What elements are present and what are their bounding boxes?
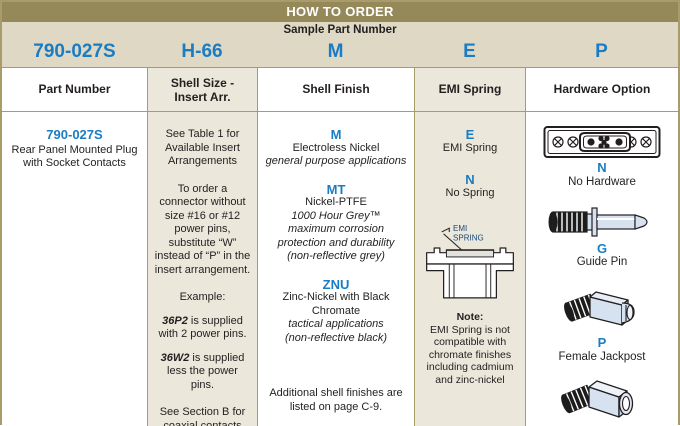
sample-value-shell-size: H-66: [147, 37, 257, 67]
female-jackpost-icon: [560, 283, 644, 335]
column-header-shell-size-label: Shell Size -Insert Arr.: [171, 76, 234, 104]
guide-pin-icon: [547, 203, 657, 241]
hardware-figure-no-hardware: [532, 124, 672, 160]
shell-finish-code-mt: MT: [264, 183, 408, 197]
column-header-shell-size: Shell Size -Insert Arr.: [147, 68, 257, 111]
shell-finish-note-znu-1: (non-reflective black): [264, 332, 408, 346]
hardware-name-g: Guide Pin: [532, 255, 672, 269]
part-number-code: 790-027S: [8, 128, 141, 142]
emi-option-code-n: N: [421, 173, 519, 187]
cell-hardware-option: N No Hardware: [525, 112, 678, 426]
emi-note-label: Note:: [421, 311, 519, 324]
shell-size-example-2-code: 36W2: [161, 352, 190, 364]
cell-shell-size: See Table 1 for Available Insert Arrange…: [147, 112, 257, 426]
shell-finish-code-znu: ZNU: [264, 278, 408, 292]
hardware-name-p: Female Jackpost: [532, 350, 672, 364]
emi-option-name-n: No Spring: [421, 187, 519, 201]
how-to-order-table: HOW TO ORDER Sample Part Number 790-027S…: [0, 0, 680, 425]
column-header-shell-finish-label: Shell Finish: [302, 82, 369, 97]
sample-part-number-band: Sample Part Number 790-027S H-66 M E P: [2, 22, 678, 68]
emi-callout-line-2: SPRING: [453, 233, 484, 242]
shell-finish-code-m: M: [264, 128, 408, 142]
hardware-code-n: N: [532, 161, 672, 175]
shell-size-example-label: Example:: [154, 291, 251, 305]
shell-size-paragraph-2: See Section B for coaxial contacts purch…: [154, 406, 251, 426]
shell-finish-note-m-0: general purpose applications: [264, 155, 408, 169]
table-banner-title: HOW TO ORDER: [2, 2, 678, 22]
shell-size-paragraph-1: To order a connector without size #16 or…: [154, 183, 251, 278]
column-header-shell-finish: Shell Finish: [257, 68, 414, 111]
shell-finish-note-mt-1: maximum corrosion protection and durabil…: [264, 223, 408, 250]
emi-option-code-e: E: [421, 128, 519, 142]
shell-finish-note-mt-2: (non-reflective grey): [264, 250, 408, 264]
shell-size-example-2: 36W2 is supplied less the power pins.: [154, 352, 251, 393]
hardware-figure-female-jackpost: [532, 283, 672, 335]
part-number-description: Rear Panel Mounted Plug with Socket Cont…: [8, 144, 141, 171]
shell-finish-name-m: Electroless Nickel: [264, 142, 408, 156]
shell-finish-footer: Additional shell finishes are listed on …: [264, 387, 408, 414]
column-header-emi-spring-label: EMI Spring: [439, 82, 502, 97]
hardware-figure-guide-pin: [532, 203, 672, 241]
sample-part-number-label: Sample Part Number: [2, 22, 678, 38]
emi-spring-diagram-icon: EMI SPRING: [421, 218, 519, 310]
shell-size-heading: See Table 1 for Available Insert Arrange…: [154, 128, 251, 169]
emi-callout-line-1: EMI: [453, 224, 467, 233]
column-header-hardware-option: Hardware Option: [525, 68, 678, 111]
hardware-code-p: P: [532, 336, 672, 350]
shell-finish-name-mt: Nickel-PTFE: [264, 196, 408, 210]
shell-finish-note-mt-0: 1000 Hour Grey™: [264, 210, 408, 224]
cell-shell-finish: M Electroless Nickel general purpose app…: [257, 112, 414, 426]
emi-option-name-e: EMI Spring: [421, 142, 519, 156]
hardware-name-n: No Hardware: [532, 175, 672, 189]
sample-value-emi-spring: E: [414, 37, 525, 67]
column-header-part-number: Part Number: [2, 68, 147, 111]
emi-note-text: EMI Spring is not compatible with chroma…: [421, 324, 519, 387]
hardware-code-g: G: [532, 242, 672, 256]
sample-value-hardware-option: P: [525, 37, 678, 67]
female-guide-socket-icon: [559, 374, 645, 426]
column-body-row: 790-027S Rear Panel Mounted Plug with So…: [2, 112, 678, 426]
sample-value-shell-finish: M: [257, 37, 414, 67]
hardware-figure-female-guide-socket: [532, 374, 672, 426]
cell-emi-spring: E EMI Spring N No Spring EMI SPRING: [414, 112, 525, 426]
cell-part-number: 790-027S Rear Panel Mounted Plug with So…: [2, 112, 147, 426]
shell-size-example-1-code: 36P2: [162, 315, 188, 327]
column-header-row: Part Number Shell Size -Insert Arr. Shel…: [2, 68, 678, 112]
dsub-connector-icon: [543, 124, 661, 160]
shell-finish-name-znu: Zinc-Nickel with Black Chromate: [264, 291, 408, 318]
shell-finish-note-znu-0: tactical applications: [264, 318, 408, 332]
sample-part-number-values: 790-027S H-66 M E P: [2, 37, 678, 67]
shell-size-example-1: 36P2 is supplied with 2 power pins.: [154, 315, 251, 342]
column-header-hardware-option-label: Hardware Option: [554, 82, 651, 97]
emi-spring-figure: EMI SPRING: [421, 218, 519, 310]
sample-value-part-number: 790-027S: [2, 37, 147, 67]
column-header-emi-spring: EMI Spring: [414, 68, 525, 111]
column-header-part-number-label: Part Number: [38, 82, 110, 97]
